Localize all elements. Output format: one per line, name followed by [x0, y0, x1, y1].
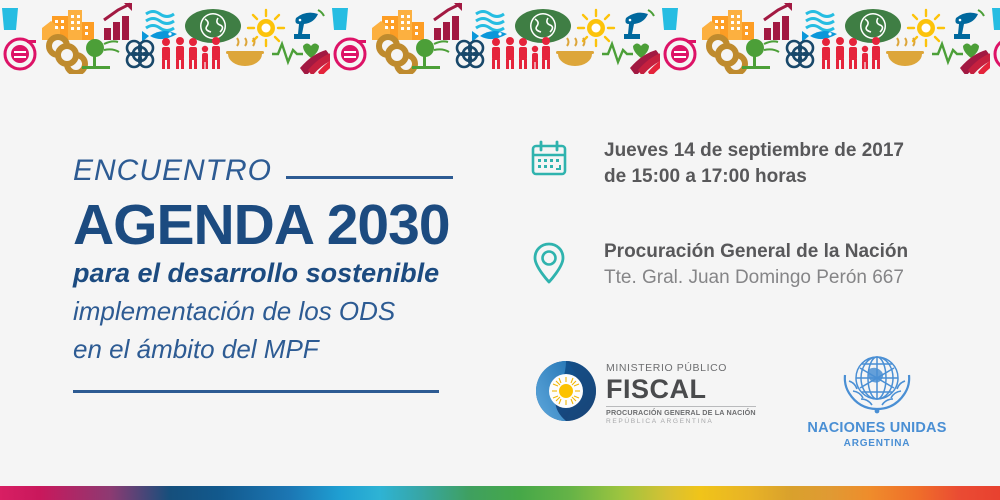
equality-circle-icon	[995, 39, 1000, 69]
dove-peace-icon	[624, 10, 654, 39]
flower-partnership-icon	[127, 41, 153, 67]
page-eyebrow: ENCUENTRO	[73, 156, 272, 186]
flower-partnership-icon	[457, 41, 483, 67]
event-date-line1: Jueves 14 de septiembre de 2017	[604, 138, 904, 164]
hot-meal-bowl-icon	[556, 38, 594, 66]
sdg-icon-tile	[990, 0, 1000, 74]
growth-chart-icon	[104, 3, 132, 40]
location-pin-icon	[530, 239, 578, 290]
event-place-line1: Procuración General de la Nación	[604, 239, 908, 265]
globe-eye-icon	[845, 9, 901, 43]
mpf-logo-text: MINISTERIO PÚBLICO FISCAL PROCURACIÓN GE…	[606, 361, 756, 426]
sdg-rainbow-bar	[0, 486, 1000, 500]
mpf-line1: MINISTERIO PÚBLICO	[606, 363, 756, 375]
event-place-text: Procuración General de la Nación Tte. Gr…	[578, 239, 908, 290]
infinity-loop-icon	[49, 37, 85, 73]
event-place-line2: Tte. Gral. Juan Domingo Perón 667	[604, 265, 908, 291]
clean-water-waves-icon	[146, 12, 174, 31]
mpf-line4: REPÚBLICA ARGENTINA	[606, 418, 756, 426]
mpf-sun-emblem-icon	[535, 360, 597, 427]
clean-water-waves-icon	[476, 12, 504, 31]
mpf-line2: FISCAL	[606, 376, 756, 403]
city-buildings-icon	[702, 10, 754, 40]
sdg-icon-tile	[0, 0, 330, 74]
page-title: AGENDA 2030	[73, 196, 453, 256]
event-date-line2: de 15:00 a 17:00 horas	[604, 164, 904, 190]
equality-circle-icon	[5, 39, 36, 69]
dove-peace-icon	[294, 10, 324, 39]
infinity-loop-icon	[709, 37, 745, 73]
mpf-logo: MINISTERIO PÚBLICO FISCAL PROCURACIÓN GE…	[535, 360, 756, 427]
page-subtitle-line2: en el ámbito del MPF	[73, 333, 453, 366]
mpf-line3: PROCURACIÓN GENERAL DE LA NACIÓN	[606, 406, 756, 418]
globe-eye-icon	[185, 9, 241, 43]
clean-water-waves-icon	[806, 12, 834, 31]
flower-partnership-icon	[787, 41, 813, 67]
hot-meal-bowl-icon	[226, 38, 264, 66]
calendar-icon	[530, 138, 578, 183]
water-glass-icon	[332, 8, 348, 30]
event-info-block: Jueves 14 de septiembre de 2017 de 15:00…	[530, 138, 950, 291]
equality-circle-icon	[335, 39, 366, 69]
headline-block: ENCUENTRO AGENDA 2030 para el desarrollo…	[73, 150, 453, 393]
logos-block: MINISTERIO PÚBLICO FISCAL PROCURACIÓN GE…	[530, 355, 960, 460]
city-buildings-icon	[372, 10, 424, 40]
united-nations-emblem-icon	[792, 347, 962, 419]
un-line2: ARGENTINA	[792, 439, 962, 449]
event-date-row: Jueves 14 de septiembre de 2017 de 15:00…	[530, 138, 950, 189]
infinity-loop-icon	[379, 37, 415, 73]
event-place-row: Procuración General de la Nación Tte. Gr…	[530, 239, 950, 290]
un-logo: NACIONES UNIDAS ARGENTINA	[792, 347, 962, 449]
dove-peace-icon	[954, 10, 984, 39]
globe-eye-icon	[515, 9, 571, 43]
event-date-text: Jueves 14 de septiembre de 2017 de 15:00…	[578, 138, 904, 189]
equality-circle-icon	[665, 39, 696, 69]
sdg-icon-tile	[330, 0, 660, 74]
headline-bottom-rule	[73, 390, 439, 393]
hot-meal-bowl-icon	[886, 38, 924, 66]
page-subtitle-line1: implementación de los ODS	[73, 295, 453, 328]
growth-chart-icon	[434, 3, 462, 40]
sdg-icon-band	[0, 0, 1000, 74]
water-glass-icon	[992, 8, 1000, 30]
water-glass-icon	[662, 8, 678, 30]
eyebrow-row: ENCUENTRO	[73, 150, 453, 192]
sdg-icon-tile	[660, 0, 990, 74]
eyebrow-rule	[286, 176, 453, 179]
page-subtitle-bold: para el desarrollo sostenible	[73, 258, 453, 289]
un-line1: NACIONES UNIDAS	[792, 421, 962, 436]
growth-chart-icon	[764, 3, 792, 40]
city-buildings-icon	[42, 10, 94, 40]
water-glass-icon	[2, 8, 18, 30]
